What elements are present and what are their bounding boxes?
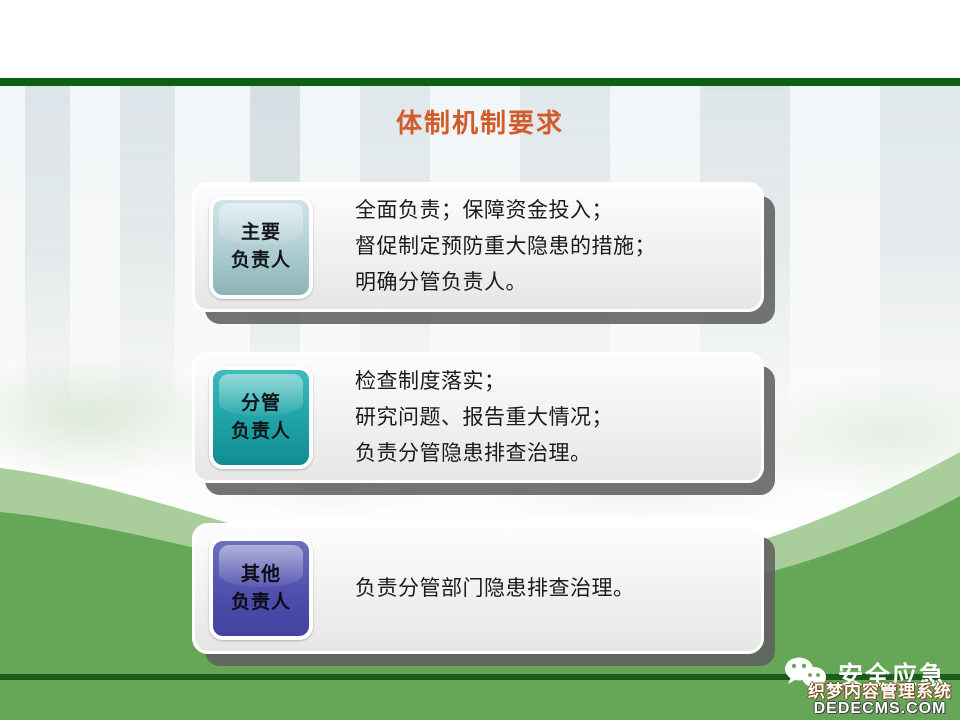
role-badge-main: 主要 负责人 bbox=[209, 196, 313, 299]
role-card-body-main: 全面负责；保障资金投入； 督促制定预防重大隐患的措施； 明确分管负责人。 bbox=[313, 193, 747, 301]
role-card-other-responsible[interactable]: 其他 负责人 负责分管部门隐患排查治理。 bbox=[192, 523, 764, 654]
role-card-body-other: 负责分管部门隐患排查治理。 bbox=[313, 571, 747, 607]
role-badge-line-2: 负责人 bbox=[231, 589, 291, 617]
role-duty-line: 负责分管隐患排查治理。 bbox=[355, 436, 747, 472]
role-duty-line: 检查制度落实； bbox=[355, 364, 747, 400]
role-duty-line: 全面负责；保障资金投入； bbox=[355, 193, 747, 229]
role-card-deputy-responsible[interactable]: 分管 负责人 检查制度落实； 研究问题、报告重大情况； 负责分管隐患排查治理。 bbox=[192, 352, 764, 483]
top-white-band bbox=[0, 0, 960, 78]
watermark-en: DEDECMS.COM bbox=[808, 701, 952, 718]
watermark: 织梦内容管理系统 DEDECMS.COM bbox=[808, 683, 952, 718]
top-green-rule bbox=[0, 78, 960, 86]
role-duty-line: 负责分管部门隐患排查治理。 bbox=[355, 571, 747, 607]
slide-canvas: 体制机制要求 主要 负责人 全面负责；保障资金投入； 督促制定预防重大隐患的措施… bbox=[0, 0, 960, 720]
page-title: 体制机制要求 bbox=[0, 103, 960, 140]
role-badge-line-2: 负责人 bbox=[231, 418, 291, 446]
role-card-list: 主要 负责人 全面负责；保障资金投入； 督促制定预防重大隐患的措施； 明确分管负… bbox=[192, 182, 764, 654]
role-badge-line-2: 负责人 bbox=[231, 247, 291, 275]
role-badge-line-1: 其他 bbox=[241, 561, 281, 589]
role-duty-line: 督促制定预防重大隐患的措施； bbox=[355, 229, 747, 265]
role-card-main-responsible[interactable]: 主要 负责人 全面负责；保障资金投入； 督促制定预防重大隐患的措施； 明确分管负… bbox=[192, 182, 764, 312]
role-duty-line: 明确分管负责人。 bbox=[355, 265, 747, 301]
watermark-cn: 织梦内容管理系统 bbox=[808, 683, 952, 701]
role-badge-other: 其他 负责人 bbox=[209, 537, 313, 640]
role-badge-line-1: 分管 bbox=[241, 390, 281, 418]
role-duty-line: 研究问题、报告重大情况； bbox=[355, 400, 747, 436]
role-badge-line-1: 主要 bbox=[241, 219, 281, 247]
role-card-body-deputy: 检查制度落实； 研究问题、报告重大情况； 负责分管隐患排查治理。 bbox=[313, 364, 747, 472]
role-badge-deputy: 分管 负责人 bbox=[209, 366, 313, 469]
